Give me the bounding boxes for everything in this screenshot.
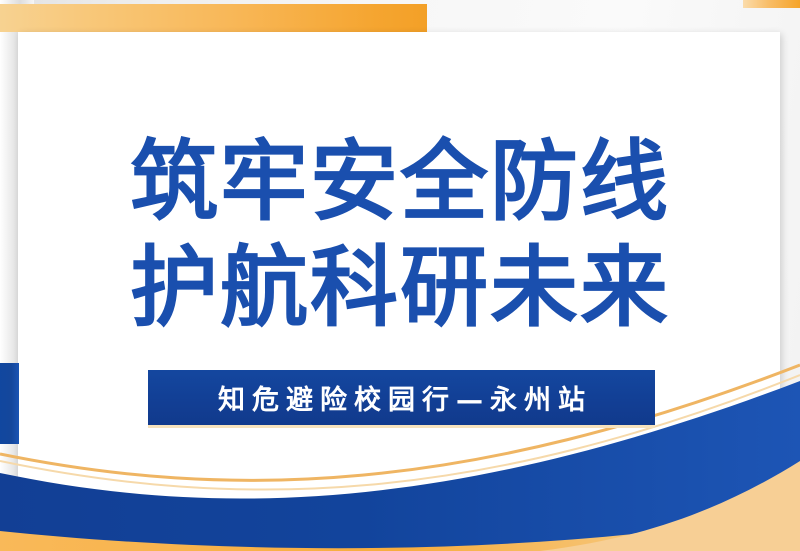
top-right-orange-bar bbox=[743, 0, 800, 8]
poster-canvas: 筑牢安全防线 护航科研未来 知危避险校园行—永州站 bbox=[0, 0, 800, 551]
headline-line-1: 筑牢安全防线 bbox=[0, 138, 800, 226]
page-title: 筑牢安全防线 护航科研未来 bbox=[0, 138, 800, 332]
top-orange-bar bbox=[0, 4, 427, 32]
subtitle-text: 知危避险校园行—永州站 bbox=[211, 378, 592, 417]
headline-line-2: 护航科研未来 bbox=[0, 244, 800, 332]
left-blue-accent-block bbox=[0, 363, 19, 444]
subtitle-banner: 知危避险校园行—永州站 bbox=[148, 370, 655, 425]
